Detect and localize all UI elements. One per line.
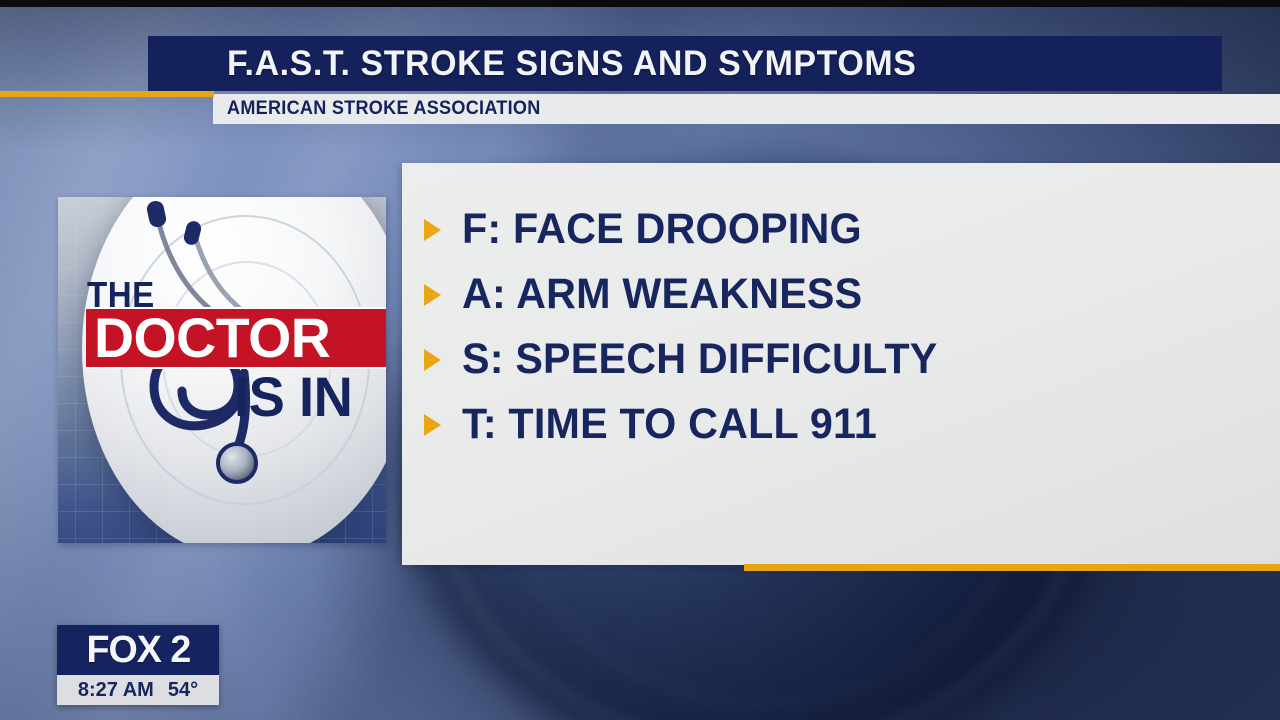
station-info-bar: 8:27 AM 54° (57, 675, 219, 705)
temperature-text: 54° (168, 680, 198, 700)
triangle-bullet-icon (424, 414, 454, 436)
show-logo-photo: THE DOCTOR IS IN (58, 197, 386, 543)
headline-accent-rule (0, 91, 214, 97)
triangle-bullet-icon (424, 219, 454, 241)
panel-accent-rule (744, 564, 1280, 571)
source-text: AMERICAN STROKE ASSOCIATION (227, 98, 541, 120)
list-item-label: T: TIME TO CALL 911 (462, 400, 877, 449)
list-item: S: SPEECH DIFFICULTY (424, 327, 1270, 392)
show-logo-line-doctor: DOCTOR (94, 310, 330, 366)
station-bug: FOX 2 8:27 AM 54° (57, 625, 219, 705)
station-logo-text: FOX 2 (86, 631, 190, 669)
list-item-label: S: SPEECH DIFFICULTY (462, 335, 938, 384)
triangle-bullet-icon (424, 349, 454, 371)
triangle-bullet-icon (424, 284, 454, 306)
list-item: T: TIME TO CALL 911 (424, 392, 1270, 457)
list-item-label: F: FACE DROOPING (462, 205, 862, 254)
broadcast-frame: F.A.S.T. STROKE SIGNS AND SYMPTOMS AMERI… (0, 0, 1280, 720)
list-item-label: A: ARM WEAKNESS (462, 270, 862, 319)
station-logo: FOX 2 (57, 625, 219, 675)
show-logo-wordmark: THE DOCTOR IS IN (58, 197, 386, 543)
content-panel: F: FACE DROOPING A: ARM WEAKNESS S: SPEE… (402, 163, 1280, 565)
headline-bar: F.A.S.T. STROKE SIGNS AND SYMPTOMS (148, 36, 1222, 91)
source-bar: AMERICAN STROKE ASSOCIATION (213, 94, 1280, 124)
headline-text: F.A.S.T. STROKE SIGNS AND SYMPTOMS (227, 44, 916, 84)
bullet-list: F: FACE DROOPING A: ARM WEAKNESS S: SPEE… (424, 197, 1270, 457)
clock-text: 8:27 AM (78, 680, 154, 700)
list-item: A: ARM WEAKNESS (424, 262, 1270, 327)
letterbox-bar-top (0, 0, 1280, 7)
show-logo-doctor-plate: DOCTOR (86, 307, 386, 369)
show-logo-card: THE DOCTOR IS IN (58, 197, 386, 543)
show-logo-line-is-in: IS IN (234, 369, 352, 425)
list-item: F: FACE DROOPING (424, 197, 1270, 262)
